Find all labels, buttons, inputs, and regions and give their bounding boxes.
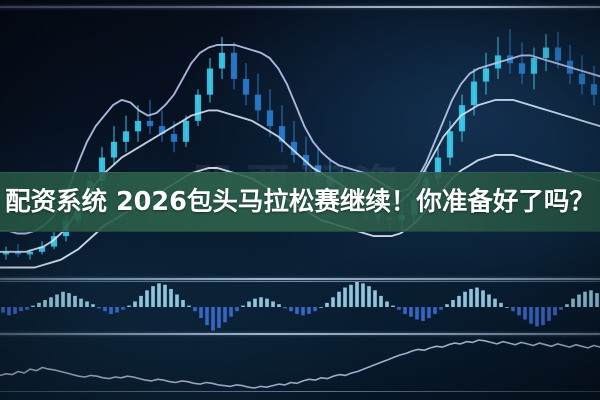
panel-separator-macd-upper bbox=[0, 281, 600, 282]
panel-separator-price-macd bbox=[0, 278, 600, 280]
bollinger-bands bbox=[0, 45, 600, 268]
headline-text: 配资系统 2026包头马拉松赛继续！你准备好了吗？ bbox=[0, 178, 600, 226]
panel-separator-macd-indicator bbox=[0, 333, 600, 335]
panel-separator-top bbox=[0, 6, 600, 8]
macd-histogram bbox=[1, 282, 599, 331]
indicator-line bbox=[0, 340, 600, 388]
chart-banner-image: 股票配资 配资系统 2026包头马拉松赛继续！你准备好了吗？ bbox=[0, 0, 600, 400]
panel-separator-bottom bbox=[0, 391, 600, 392]
